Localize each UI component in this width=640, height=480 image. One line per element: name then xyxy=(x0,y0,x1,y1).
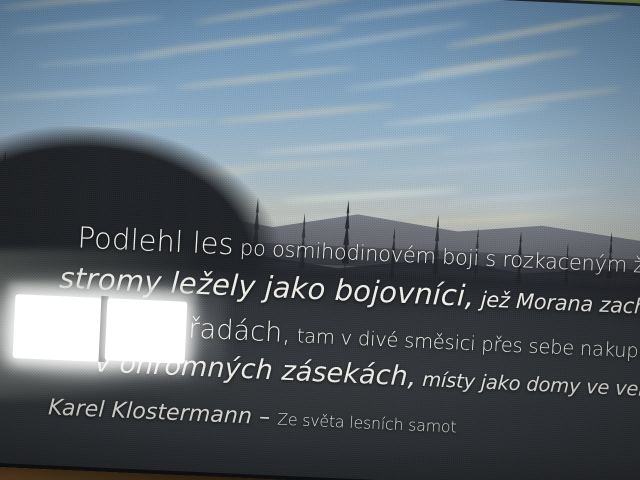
photo-scene: Podlehl les po osmihodinovém boji s rozk… xyxy=(0,0,640,480)
window-reflection-pane-right xyxy=(105,298,188,364)
panel-surface: Podlehl les po osmihodinovém boji s rozk… xyxy=(0,0,640,480)
quote-panel-board: Podlehl les po osmihodinovém boji s rozk… xyxy=(0,0,640,480)
panel-vignette xyxy=(0,0,640,480)
window-reflection-pane-left xyxy=(13,294,102,362)
